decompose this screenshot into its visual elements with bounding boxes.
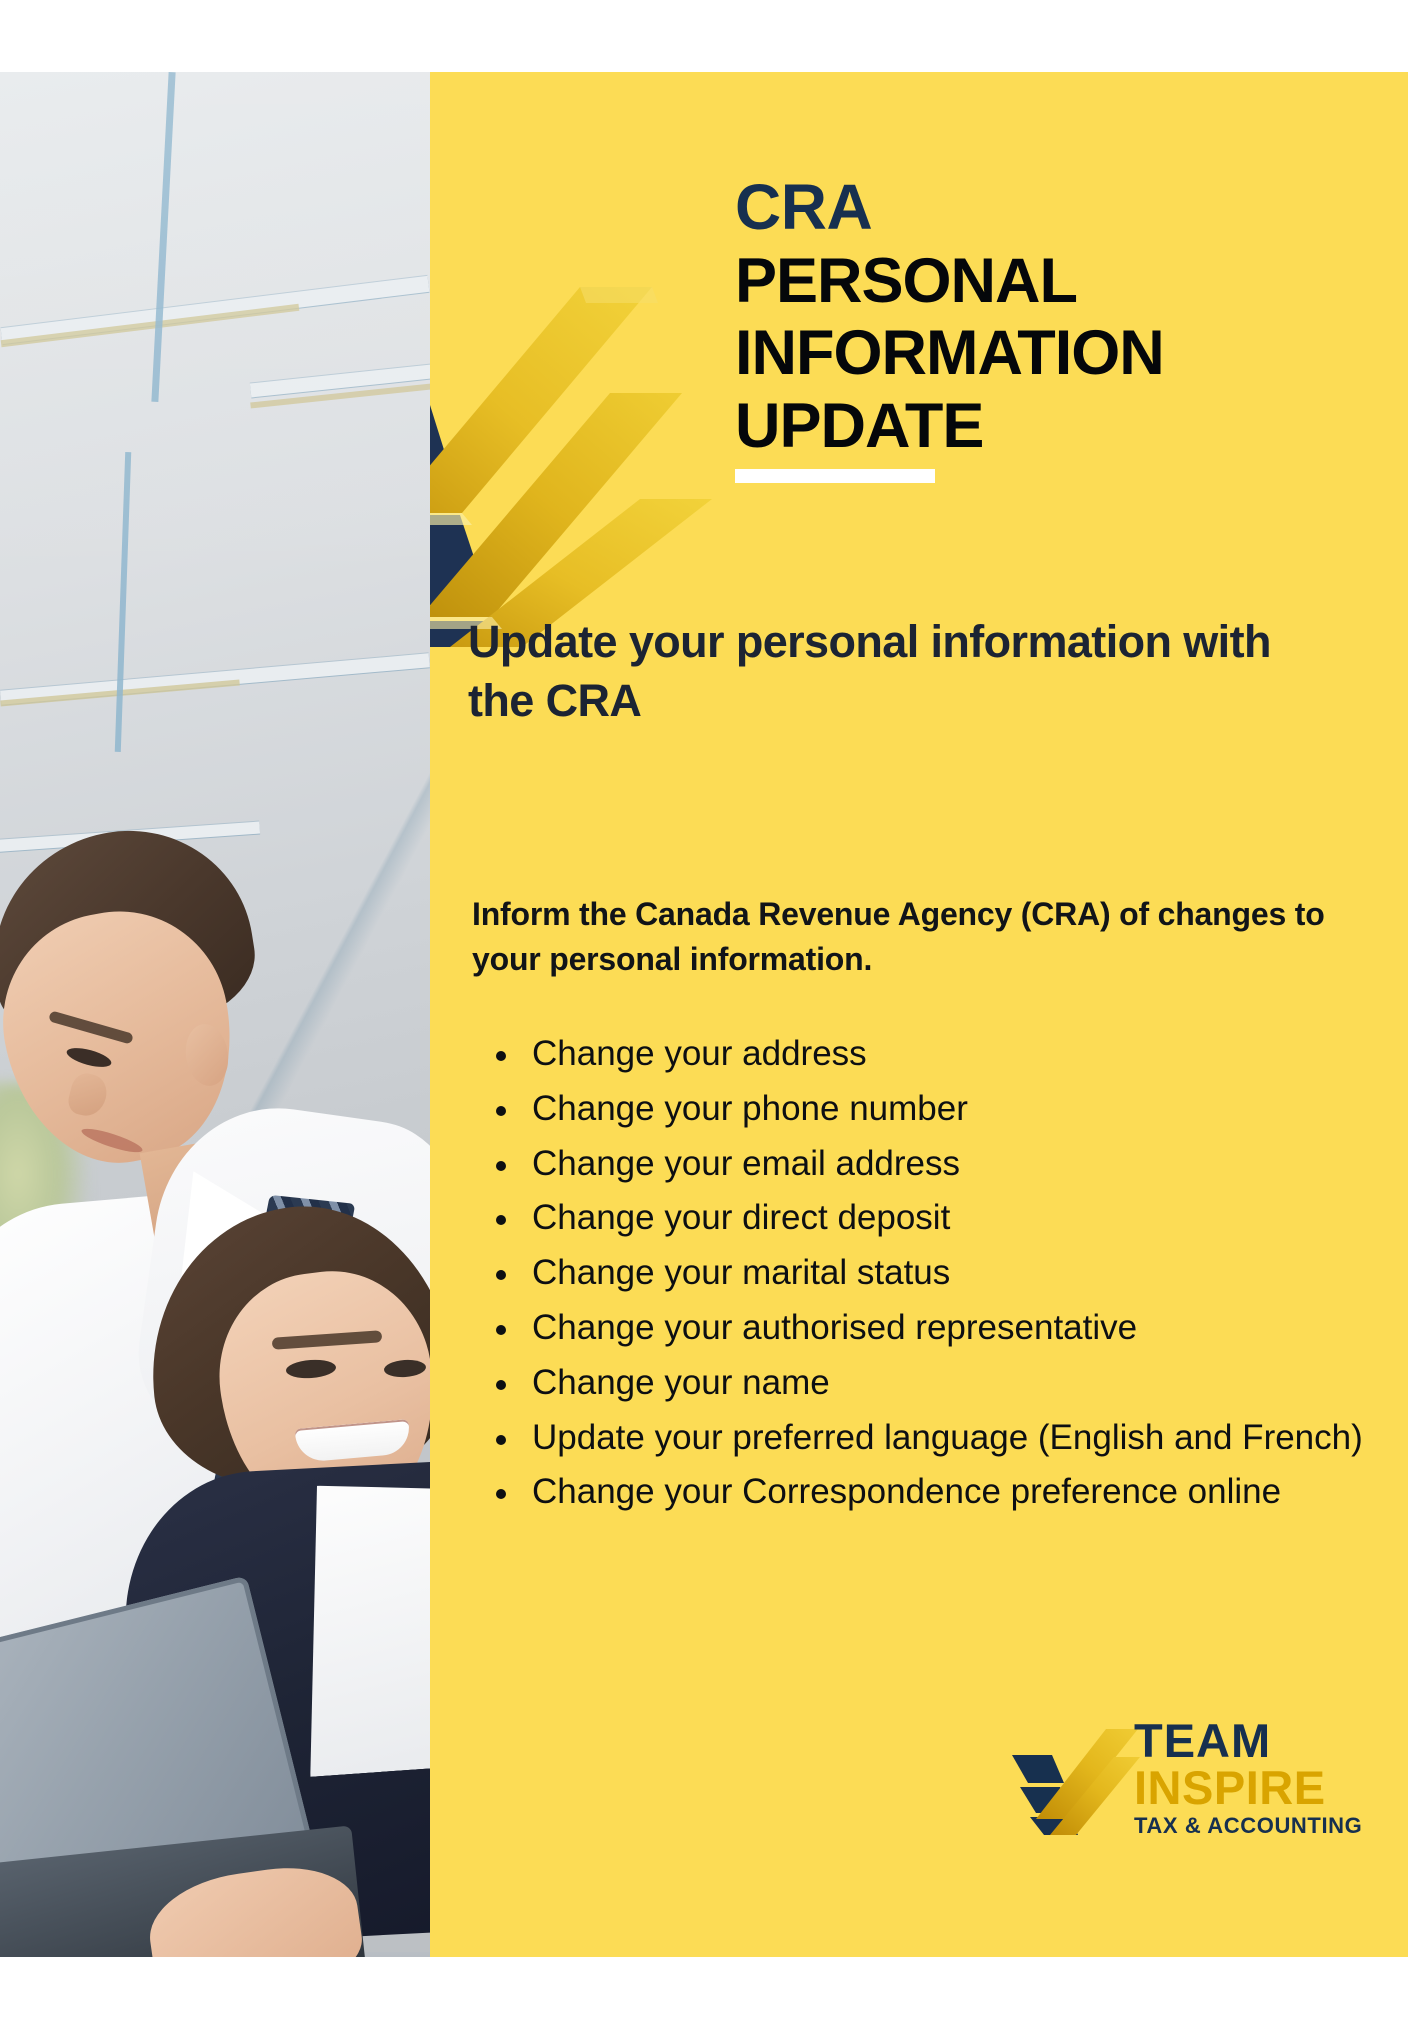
- title-line-update: UPDATE: [735, 391, 1375, 462]
- content-panel: CRA PERSONAL INFORMATION UPDATE Update y…: [430, 72, 1408, 1957]
- list-item: Update your preferred language (English …: [532, 1416, 1408, 1461]
- brand-tagline-text: TAX & ACCOUNTING: [1134, 1814, 1390, 1838]
- page-title: CRA PERSONAL INFORMATION UPDATE: [735, 172, 1375, 483]
- list-item: Change your name: [532, 1361, 1408, 1406]
- subheading: Update your personal information with th…: [468, 612, 1348, 731]
- list-item: Change your Correspondence preference on…: [532, 1470, 1408, 1515]
- brand-inspire-text: INSPIRE: [1134, 1764, 1390, 1812]
- list-item: Change your authorised representative: [532, 1306, 1408, 1351]
- hero-photo: [0, 72, 430, 1957]
- list-item: Change your email address: [532, 1142, 1408, 1187]
- intro-paragraph: Inform the Canada Revenue Agency (CRA) o…: [472, 892, 1382, 983]
- brand-team-text: TEAM: [1134, 1717, 1390, 1764]
- list-item: Change your phone number: [532, 1087, 1408, 1132]
- chevron-decoration-icon: [430, 287, 734, 647]
- brand-logo: TEAM INSPIRE TAX & ACCOUNTING: [1010, 1707, 1390, 1857]
- title-underline-rule: [735, 469, 935, 483]
- list-item: Change your marital status: [532, 1251, 1408, 1296]
- brand-chevron-icon: [1010, 1727, 1140, 1837]
- brand-wordmark: TEAM INSPIRE TAX & ACCOUNTING: [1134, 1717, 1390, 1838]
- title-line-personal: PERSONAL: [735, 246, 1375, 317]
- poster-canvas: CRA PERSONAL INFORMATION UPDATE Update y…: [0, 0, 1428, 2028]
- service-list: Change your address Change your phone nu…: [470, 1032, 1408, 1525]
- list-item: Change your direct deposit: [532, 1196, 1408, 1241]
- title-line-information: INFORMATION: [735, 318, 1375, 389]
- title-line-cra: CRA: [735, 172, 1375, 244]
- list-item: Change your address: [532, 1032, 1408, 1077]
